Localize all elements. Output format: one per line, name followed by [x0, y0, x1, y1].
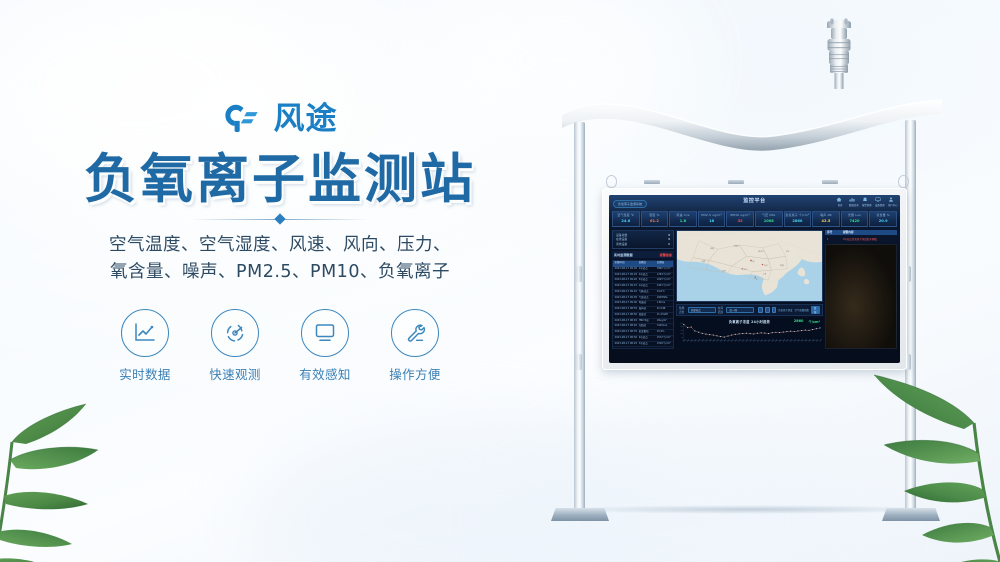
svg-text:2560: 2560: [680, 326, 683, 328]
feature-icon-circle: [211, 309, 259, 357]
table-cell: 湿度站: [639, 313, 657, 318]
nav-item-device[interactable]: 设备管理: [875, 197, 883, 207]
svg-text:09-05: 09-05: [698, 338, 701, 342]
feature-label: 快速观测: [203, 364, 267, 383]
table-cell: 氧含量站: [639, 330, 657, 335]
svg-text:09-18: 09-18: [746, 338, 749, 342]
data-table-header-bar: 实时监测数据 报警信息: [612, 251, 674, 258]
table-cell: 1025个/cm³: [657, 278, 675, 283]
dashboard-body: 设备总数8在线设备8离线设备0 实时监测数据 报警信息 采集时间监测点监测值20…: [609, 227, 900, 349]
svg-text:1920: 1920: [680, 329, 683, 331]
map-filter-label-2: 时间范围: [718, 306, 725, 314]
feature-list: 实时数据 快速观测: [0, 309, 560, 383]
svg-text:10-01: 10-01: [793, 338, 796, 342]
table-column-header: 采集时间: [613, 261, 639, 266]
map-filter-label-1: 监测点位: [679, 306, 686, 314]
feature-icon-circle: [301, 309, 349, 357]
base-plate-right: [882, 508, 940, 521]
dashboard-left-column: 设备总数8在线设备8离线设备0 实时监测数据 报警信息 采集时间监测点监测值20…: [612, 230, 674, 349]
svg-text:09-03: 09-03: [690, 338, 693, 342]
svg-text:09-19: 09-19: [749, 338, 752, 342]
table-cell: 42.5dB: [657, 307, 675, 312]
svg-text:09-21: 09-21: [757, 338, 760, 342]
nav-item-alarm[interactable]: 报警管理: [862, 197, 870, 207]
map-tool-button[interactable]: [772, 307, 777, 313]
nav-label: 数据查询: [849, 203, 857, 207]
brand-name: 风途: [274, 104, 338, 135]
table-cell: 4号站点: [639, 336, 657, 341]
nav-label: 首页: [836, 203, 844, 207]
map-tool-button[interactable]: [758, 307, 763, 313]
table-cell: 2023-08-17 09:15: [613, 284, 639, 289]
svg-text:09-09: 09-09: [712, 338, 715, 342]
frame-bracket-left: [575, 266, 582, 282]
nav-label: 用户中心: [888, 203, 896, 207]
table-cell: 2023-08-17 08:40: [613, 324, 639, 329]
map-legend-2: 空气质量指数: [795, 308, 809, 312]
summary-value: 0: [668, 242, 670, 246]
table-cell: 1.8m/s: [657, 301, 675, 306]
table-cell: 1号站点: [639, 267, 657, 272]
monitoring-dashboard[interactable]: 负氧离子监测系统 监控平台 首页: [609, 195, 900, 363]
table-cell: 24.6℃: [657, 290, 675, 295]
base-plate-left: [551, 508, 609, 521]
monitoring-station: 负氧离子监测系统 监控平台 首页: [540, 78, 960, 518]
alarm-cell: 3号站点负氧离子浓度低于阈值: [843, 237, 897, 242]
table-row[interactable]: 2023-08-17 08:255号站点1318个/cm³: [613, 342, 673, 348]
nav-label: 设备管理: [875, 203, 883, 207]
table-cell: 61.2%RH: [657, 313, 675, 318]
table-cell: 1008hPa: [657, 296, 675, 301]
svg-text:09-16: 09-16: [738, 338, 741, 342]
alarm-col-index: 序号: [825, 230, 843, 235]
map-query-button[interactable]: 查询: [811, 306, 820, 314]
table-cell: 2023-08-17 08:35: [613, 330, 639, 335]
subtitle-line-2: 氧含量、噪声、PM2.5、PM10、负氧离子: [0, 259, 560, 286]
map-tool-button[interactable]: [765, 307, 770, 313]
nav-label: 报警管理: [862, 203, 870, 207]
tropical-leaves-left: [0, 370, 176, 562]
map-legend-1: 负氧离子浓度: [778, 308, 792, 312]
alarm-icon: [862, 197, 868, 202]
dashboard-header: 负氧离子监测系统 监控平台 首页: [609, 195, 900, 211]
table-cell: 2023-08-17 09:00: [613, 301, 639, 306]
svg-text:09-30: 09-30: [790, 338, 793, 342]
subtitle-block: 空气温度、空气湿度、风速、风向、压力、 氧含量、噪声、PM2.5、PM10、负氧…: [0, 232, 560, 286]
svg-text:09-22: 09-22: [760, 338, 763, 342]
svg-text:09-23: 09-23: [764, 338, 767, 342]
home-icon: [836, 197, 842, 202]
realtime-data-table[interactable]: 采集时间监测点监测值2023-08-17 09:301号站点2860个/cm³2…: [612, 260, 674, 349]
table-cell: 2023-08-17 08:55: [613, 307, 639, 312]
svg-text:09-10: 09-10: [716, 338, 719, 342]
feature-item-realtime-data[interactable]: 实时数据: [113, 309, 177, 383]
page-title: 负氧离子监测站: [0, 150, 560, 209]
device-summary-row: 离线设备0: [616, 242, 670, 246]
wind-cloud-logo-icon: [223, 102, 267, 136]
table-cell: 20.9%: [657, 330, 675, 335]
feature-icon-circle: [391, 309, 439, 357]
mount-clip: [822, 180, 838, 184]
camera-feed-panel[interactable]: [825, 244, 897, 349]
svg-text:09-08: 09-08: [709, 338, 712, 342]
feature-label: 操作方便: [383, 364, 447, 383]
feature-label: 有效感知: [293, 364, 357, 383]
dashboard-right-column: 序号 报警内容 13号站点负氧离子浓度低于阈值: [825, 230, 897, 349]
svg-text:1280: 1280: [680, 333, 683, 335]
map-filter-select-2[interactable]: 近一周: [726, 307, 754, 313]
alarm-col-content: 报警内容: [843, 230, 897, 235]
alarm-row[interactable]: 13号站点负氧离子浓度低于阈值: [825, 237, 897, 242]
svg-text:3200: 3200: [680, 322, 683, 324]
nav-item-user[interactable]: 用户中心: [888, 197, 896, 207]
trend-chart-panel[interactable]: 负氧离子浓度 24小时趋势 2860 个/cm³ 064012801920256…: [676, 318, 823, 349]
alarm-table-header: 序号 报警内容: [825, 230, 897, 235]
svg-text:10-06: 10-06: [812, 338, 815, 342]
table-cell: 气压站点: [639, 296, 657, 301]
table-cell: 2023-08-17 09:10: [613, 290, 639, 295]
table-cell: 气象站点: [639, 290, 657, 295]
summary-label: 离线设备: [616, 242, 627, 246]
svg-text:10-03: 10-03: [801, 338, 804, 342]
map-filter-select-1[interactable]: 全部站点: [688, 307, 716, 313]
table-cell: 噪声站: [639, 307, 657, 312]
data-table-alert-label: 报警信息: [660, 252, 672, 257]
table-cell: 2023-08-17 09:05: [613, 296, 639, 301]
mount-loop-left: [606, 175, 617, 188]
table-cell: 2431个/cm³: [657, 284, 675, 289]
svg-text:09-13: 09-13: [727, 338, 730, 342]
svg-text:09-17: 09-17: [742, 338, 745, 342]
svg-text:09-20: 09-20: [753, 338, 756, 342]
svg-text:10-05: 10-05: [808, 338, 811, 342]
title-divider: [192, 218, 368, 221]
radar-signal-icon: [223, 321, 247, 345]
monitor-display-icon: [313, 322, 337, 344]
feature-item-effective-sensing[interactable]: 有效感知: [293, 309, 357, 383]
feature-icon-circle: [121, 309, 169, 357]
marketing-copy-block: 风途 负氧离子监测站 空气温度、空气湿度、风速、风向、压力、 氧含量、噪声、PM…: [0, 96, 560, 383]
svg-text:640: 640: [681, 337, 683, 339]
table-cell: 2023-08-17 08:50: [613, 313, 639, 318]
svg-text:四川: 四川: [744, 268, 748, 271]
user-icon: [888, 197, 894, 202]
svg-text:09-25: 09-25: [771, 338, 774, 342]
svg-text:09-02: 09-02: [687, 338, 690, 342]
alarm-table-body[interactable]: 13号站点负氧离子浓度低于阈值: [825, 237, 897, 242]
brand-logo: 风途: [0, 96, 560, 142]
dashboard-nav-icons[interactable]: 首页 数据查询 报警管理: [836, 197, 896, 207]
ultrasonic-weather-sensor-icon: [818, 16, 860, 94]
device-icon: [875, 197, 881, 202]
alarm-cell: 1: [825, 237, 843, 242]
svg-text:0: 0: [682, 340, 683, 342]
table-cell: 2023-08-17 09:25: [613, 273, 639, 278]
display-screen-frame: 负氧离子监测系统 监控平台 首页: [602, 188, 907, 370]
svg-text:09-28: 09-28: [782, 338, 785, 342]
frame-bracket-left: [575, 354, 582, 370]
svg-text:10-07: 10-07: [816, 338, 819, 342]
support-post-left: [574, 122, 585, 512]
svg-text:09-14: 09-14: [731, 338, 734, 342]
feature-item-easy-operation[interactable]: 操作方便: [383, 309, 447, 383]
table-cell: 1号站点: [639, 284, 657, 289]
table-cell: 7420Lux: [657, 324, 675, 329]
dashboard-center-column: 新疆内蒙古 黑龙江北京 山东四川 上海广东 西藏云南 日本韩国: [676, 230, 823, 349]
table-cell: 光照站: [639, 324, 657, 329]
wrench-tool-icon: [403, 321, 427, 345]
table-cell: 2023-08-17 09:20: [613, 278, 639, 283]
data-table-title: 实时监测数据: [614, 252, 633, 257]
data-icon: [849, 197, 855, 202]
table-cell: 2023-08-17 09:30: [613, 267, 639, 272]
device-summary-panel: 设备总数8在线设备8离线设备0: [612, 230, 674, 249]
feature-label: 实时数据: [113, 364, 177, 383]
table-cell: 5号站点: [639, 342, 657, 347]
svg-text:09-04: 09-04: [694, 338, 697, 342]
table-cell: 2023-08-17 08:30: [613, 336, 639, 341]
table-cell: 2023-08-17 08:25: [613, 342, 639, 347]
poster-canvas: 风途 负氧离子监测站 空气温度、空气湿度、风速、风向、压力、 氧含量、噪声、PM…: [0, 0, 1000, 562]
table-cell: PM2.5站: [639, 319, 657, 324]
east-asia-map[interactable]: 新疆内蒙古 黑龙江北京 山东四川 上海广东 西藏云南 日本韩国: [676, 230, 823, 302]
svg-text:10-02: 10-02: [797, 338, 800, 342]
table-column-header: 监测值: [657, 261, 675, 266]
nav-item-home[interactable]: 首页: [836, 197, 844, 207]
table-cell: 2号站点: [639, 273, 657, 278]
nav-item-data[interactable]: 数据查询: [849, 197, 857, 207]
mount-loop-right: [898, 175, 909, 188]
mount-clip: [644, 180, 660, 184]
svg-text:09-11: 09-11: [720, 338, 723, 342]
mount-clip: [728, 180, 744, 184]
svg-text:09-26: 09-26: [775, 338, 778, 342]
table-cell: 1318个/cm³: [657, 342, 675, 347]
svg-text:09-27: 09-27: [779, 338, 782, 342]
svg-text:09-24: 09-24: [768, 338, 771, 342]
trend-chart-svg: 0640128019202560320009-0109-0209-0309-04…: [676, 318, 823, 349]
table-cell: 3号站点: [639, 278, 657, 283]
subtitle-line-1: 空气温度、空气湿度、风速、风向、压力、: [0, 232, 560, 259]
svg-text:09-01: 09-01: [683, 338, 686, 342]
line-chart-icon: [133, 322, 157, 344]
svg-text:09-29: 09-29: [786, 338, 789, 342]
svg-text:09-12: 09-12: [724, 338, 727, 342]
svg-text:09-15: 09-15: [735, 338, 738, 342]
table-column-header: 监测点: [639, 261, 657, 266]
map-graphic: 新疆内蒙古 黑龙江北京 山东四川 上海广东 西藏云南 日本韩国: [677, 231, 822, 301]
map-control-bar[interactable]: 监测点位 全部站点 时间范围 近一周 负氧离子浓度 空气质量指数 查询: [676, 304, 823, 316]
table-cell: 1572个/cm³: [657, 336, 675, 341]
svg-text:09-07: 09-07: [705, 338, 708, 342]
table-cell: 风速站: [639, 301, 657, 306]
table-cell: 1764个/cm³: [657, 273, 675, 278]
svg-text:09-06: 09-06: [701, 338, 704, 342]
table-cell: 2023-08-17 08:45: [613, 319, 639, 324]
feature-item-fast-observation[interactable]: 快速观测: [203, 309, 267, 383]
wave-canopy: [558, 86, 946, 156]
svg-text:10-08: 10-08: [819, 338, 822, 342]
table-cell: 2860个/cm³: [657, 267, 675, 272]
table-cell: 18ug/m³: [657, 319, 675, 324]
svg-text:10-04: 10-04: [805, 338, 808, 342]
